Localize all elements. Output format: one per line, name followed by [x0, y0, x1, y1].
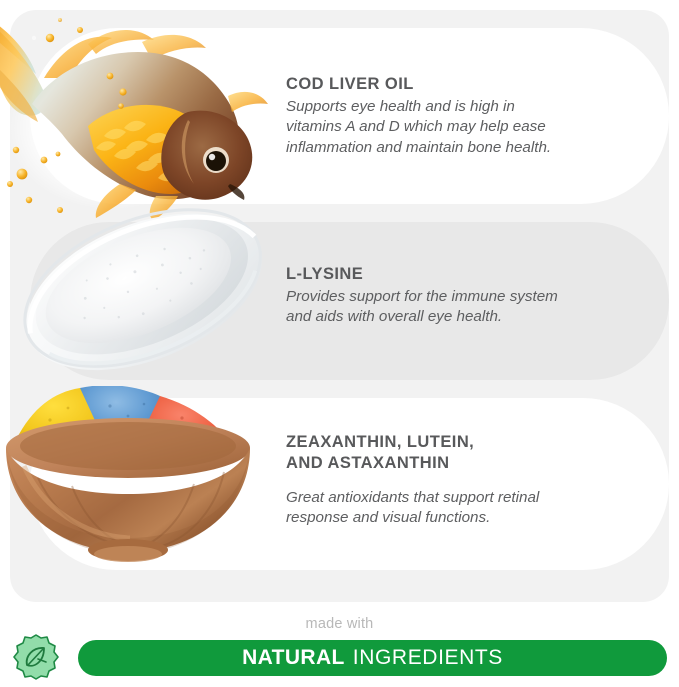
made-with-label: made with	[0, 616, 679, 632]
feature-title-1: COD LIVER OIL	[286, 74, 639, 95]
feature-description-3: Great antioxidants that support retinal …	[286, 488, 639, 528]
feature-row-zeaxanthin-lutein-astaxanthin: ZEAXANTHIN, LUTEIN, AND ASTAXANTHIN Grea…	[0, 398, 679, 570]
banner-strong-text: NATURAL	[242, 646, 345, 670]
feature-copy-2: L-LYSINE Provides support for the immune…	[286, 264, 639, 328]
feature-row-cod-liver-oil: COD LIVER OIL Supports eye health and is…	[0, 28, 679, 204]
feature-copy-1: COD LIVER OIL Supports eye health and is…	[286, 74, 639, 158]
banner-light-text: INGREDIENTS	[353, 646, 503, 670]
feature-title-2: L-LYSINE	[286, 264, 639, 285]
feature-title-3: ZEAXANTHIN, LUTEIN, AND ASTAXANTHIN	[286, 432, 639, 474]
infographic-page: COD LIVER OIL Supports eye health and is…	[0, 0, 679, 682]
feature-description-1: Supports eye health and is high in vitam…	[286, 97, 639, 158]
feature-description-2: Provides support for the immune system a…	[286, 287, 639, 327]
natural-ingredients-banner: NATURAL INGREDIENTS	[78, 640, 667, 676]
feature-copy-3: ZEAXANTHIN, LUTEIN, AND ASTAXANTHIN Grea…	[286, 432, 639, 529]
leaf-badge-icon	[10, 632, 62, 682]
feature-row-l-lysine: L-LYSINE Provides support for the immune…	[0, 222, 679, 380]
